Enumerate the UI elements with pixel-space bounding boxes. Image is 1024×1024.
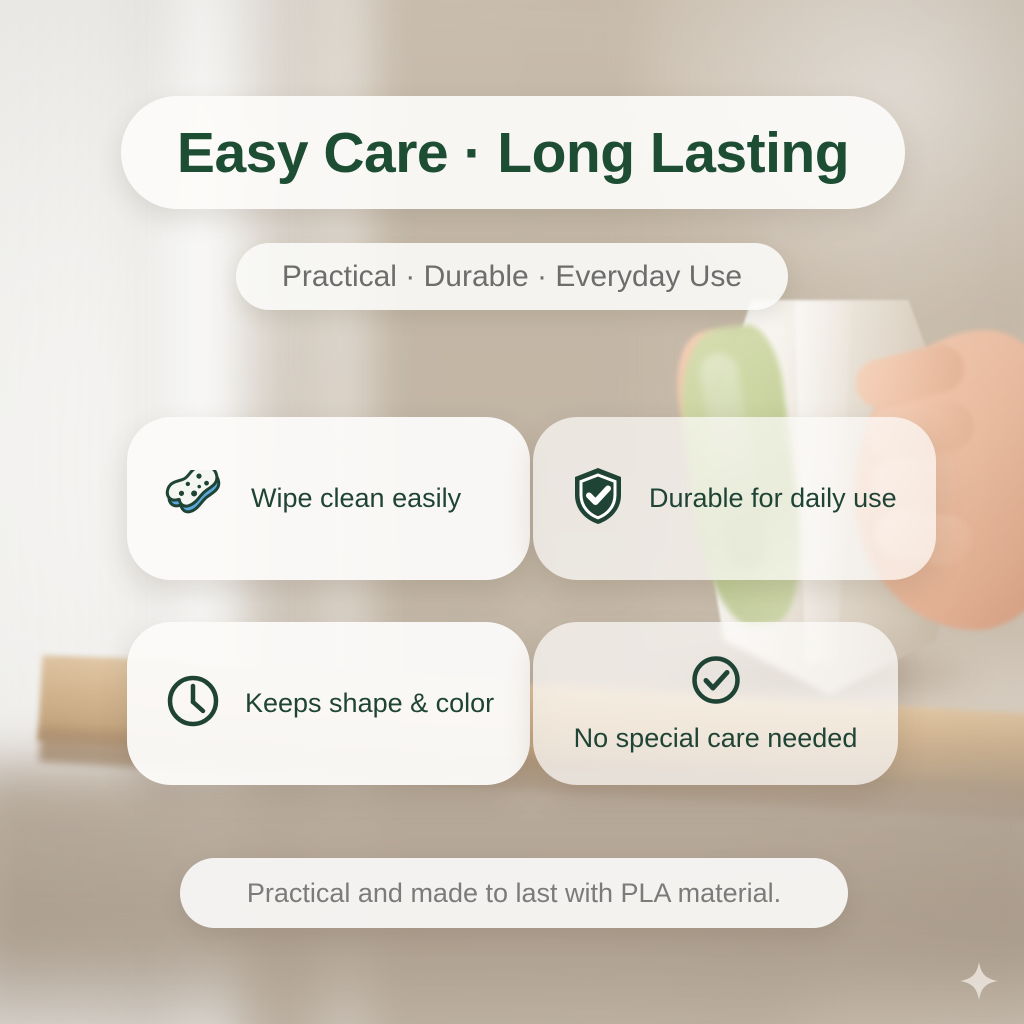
feature-card-no-special-care[interactable]: No special care needed xyxy=(533,622,898,785)
feature-label: Durable for daily use xyxy=(649,483,897,514)
sponge-icon xyxy=(165,470,227,527)
subtitle-pill: Practical · Durable · Everyday Use xyxy=(236,243,788,310)
overlay-content: Easy Care · Long Lasting Practical · Dur… xyxy=(0,0,1024,1024)
circle-check-icon xyxy=(690,654,742,711)
feature-card-keeps-shape[interactable]: Keeps shape & color xyxy=(127,622,530,785)
feature-card-wipe-clean[interactable]: Wipe clean easily xyxy=(127,417,530,580)
sparkle-icon xyxy=(958,960,1000,1002)
page-subtitle: Practical · Durable · Everyday Use xyxy=(282,260,742,294)
infographic-canvas: Easy Care · Long Lasting Practical · Dur… xyxy=(0,0,1024,1024)
clock-icon xyxy=(165,673,221,734)
shield-check-icon xyxy=(571,466,625,531)
feature-card-durable[interactable]: Durable for daily use xyxy=(533,417,936,580)
feature-label: No special care needed xyxy=(574,723,858,754)
feature-label: Keeps shape & color xyxy=(245,688,494,719)
page-title: Easy Care · Long Lasting xyxy=(177,120,849,186)
title-pill: Easy Care · Long Lasting xyxy=(121,96,905,209)
footer-note: Practical and made to last with PLA mate… xyxy=(247,878,781,909)
footer-pill: Practical and made to last with PLA mate… xyxy=(180,858,848,928)
feature-label: Wipe clean easily xyxy=(251,483,461,514)
